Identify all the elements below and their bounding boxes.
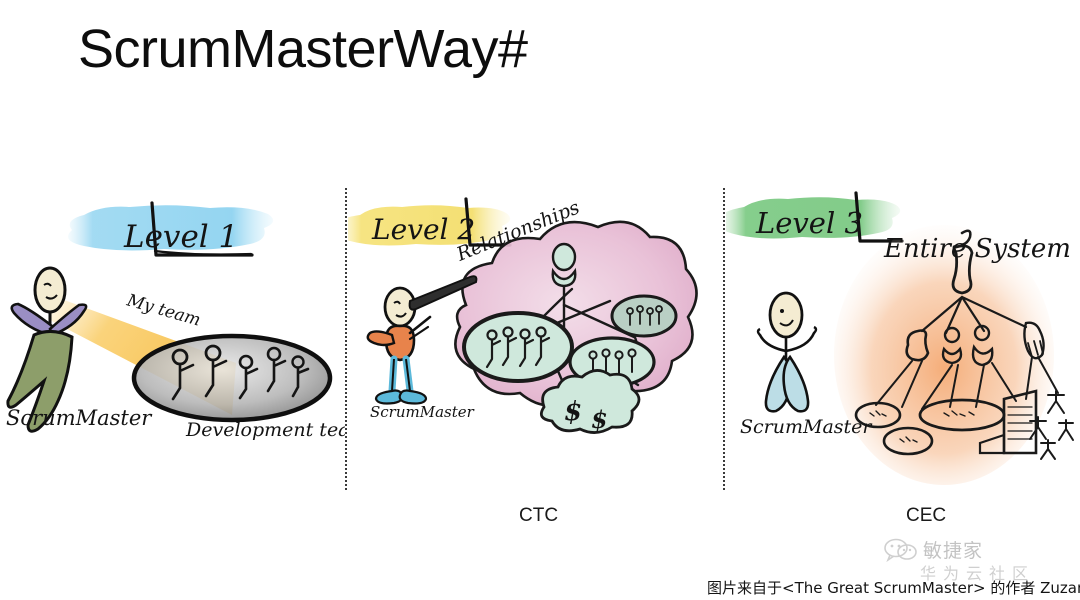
panel-caption-cec: CEC xyxy=(906,505,946,527)
relationships-cloud: $ $ xyxy=(455,222,696,434)
watermark-brand: 敏捷家 xyxy=(923,536,983,563)
scrummaster-label-level-2: ScrumMaster xyxy=(370,403,475,421)
level-2-banner-label: Level 2 xyxy=(371,213,475,246)
panel-level-2: Level 2 xyxy=(348,185,720,495)
scrummaster-label-level-3: ScrumMaster xyxy=(740,416,873,438)
panel-caption-ctc: CTC xyxy=(519,505,558,527)
attribution-text: 图片来自于<The Great ScrumMaster> 的作者 Zuzana xyxy=(707,577,1080,598)
panel-level-1: Level 1 xyxy=(0,185,345,495)
annotation-development-team: Development team xyxy=(185,419,345,441)
money-symbol: $ xyxy=(564,397,582,427)
level-3-illustration: Level 3 xyxy=(726,185,1080,495)
level-3-banner: Level 3 xyxy=(726,193,902,241)
level-1-illustration: Level 1 xyxy=(0,185,345,495)
level-2-illustration: Level 2 xyxy=(348,185,720,495)
panel-divider-1 xyxy=(345,188,347,490)
scrummaster-label-level-1: ScrumMaster xyxy=(6,406,153,430)
page-title: ScrumMasterWay# xyxy=(78,18,528,80)
cloud-node-person xyxy=(553,244,576,286)
level-1-banner: Level 1 xyxy=(68,203,273,255)
annotation-my-team: My team xyxy=(124,290,203,330)
cloud-node-team-b xyxy=(612,296,676,336)
level-1-banner-label: Level 1 xyxy=(123,219,238,255)
panel-divider-2 xyxy=(723,188,725,490)
money-symbol-2: $ xyxy=(591,405,608,434)
cloud-node-team-main xyxy=(464,313,572,381)
level-3-banner-label: Level 3 xyxy=(755,206,863,240)
panel-level-3: Level 3 xyxy=(726,185,1080,495)
development-team-group xyxy=(134,336,330,420)
wechat-icon xyxy=(884,538,918,562)
annotation-entire-system: Entire System xyxy=(883,234,1071,264)
